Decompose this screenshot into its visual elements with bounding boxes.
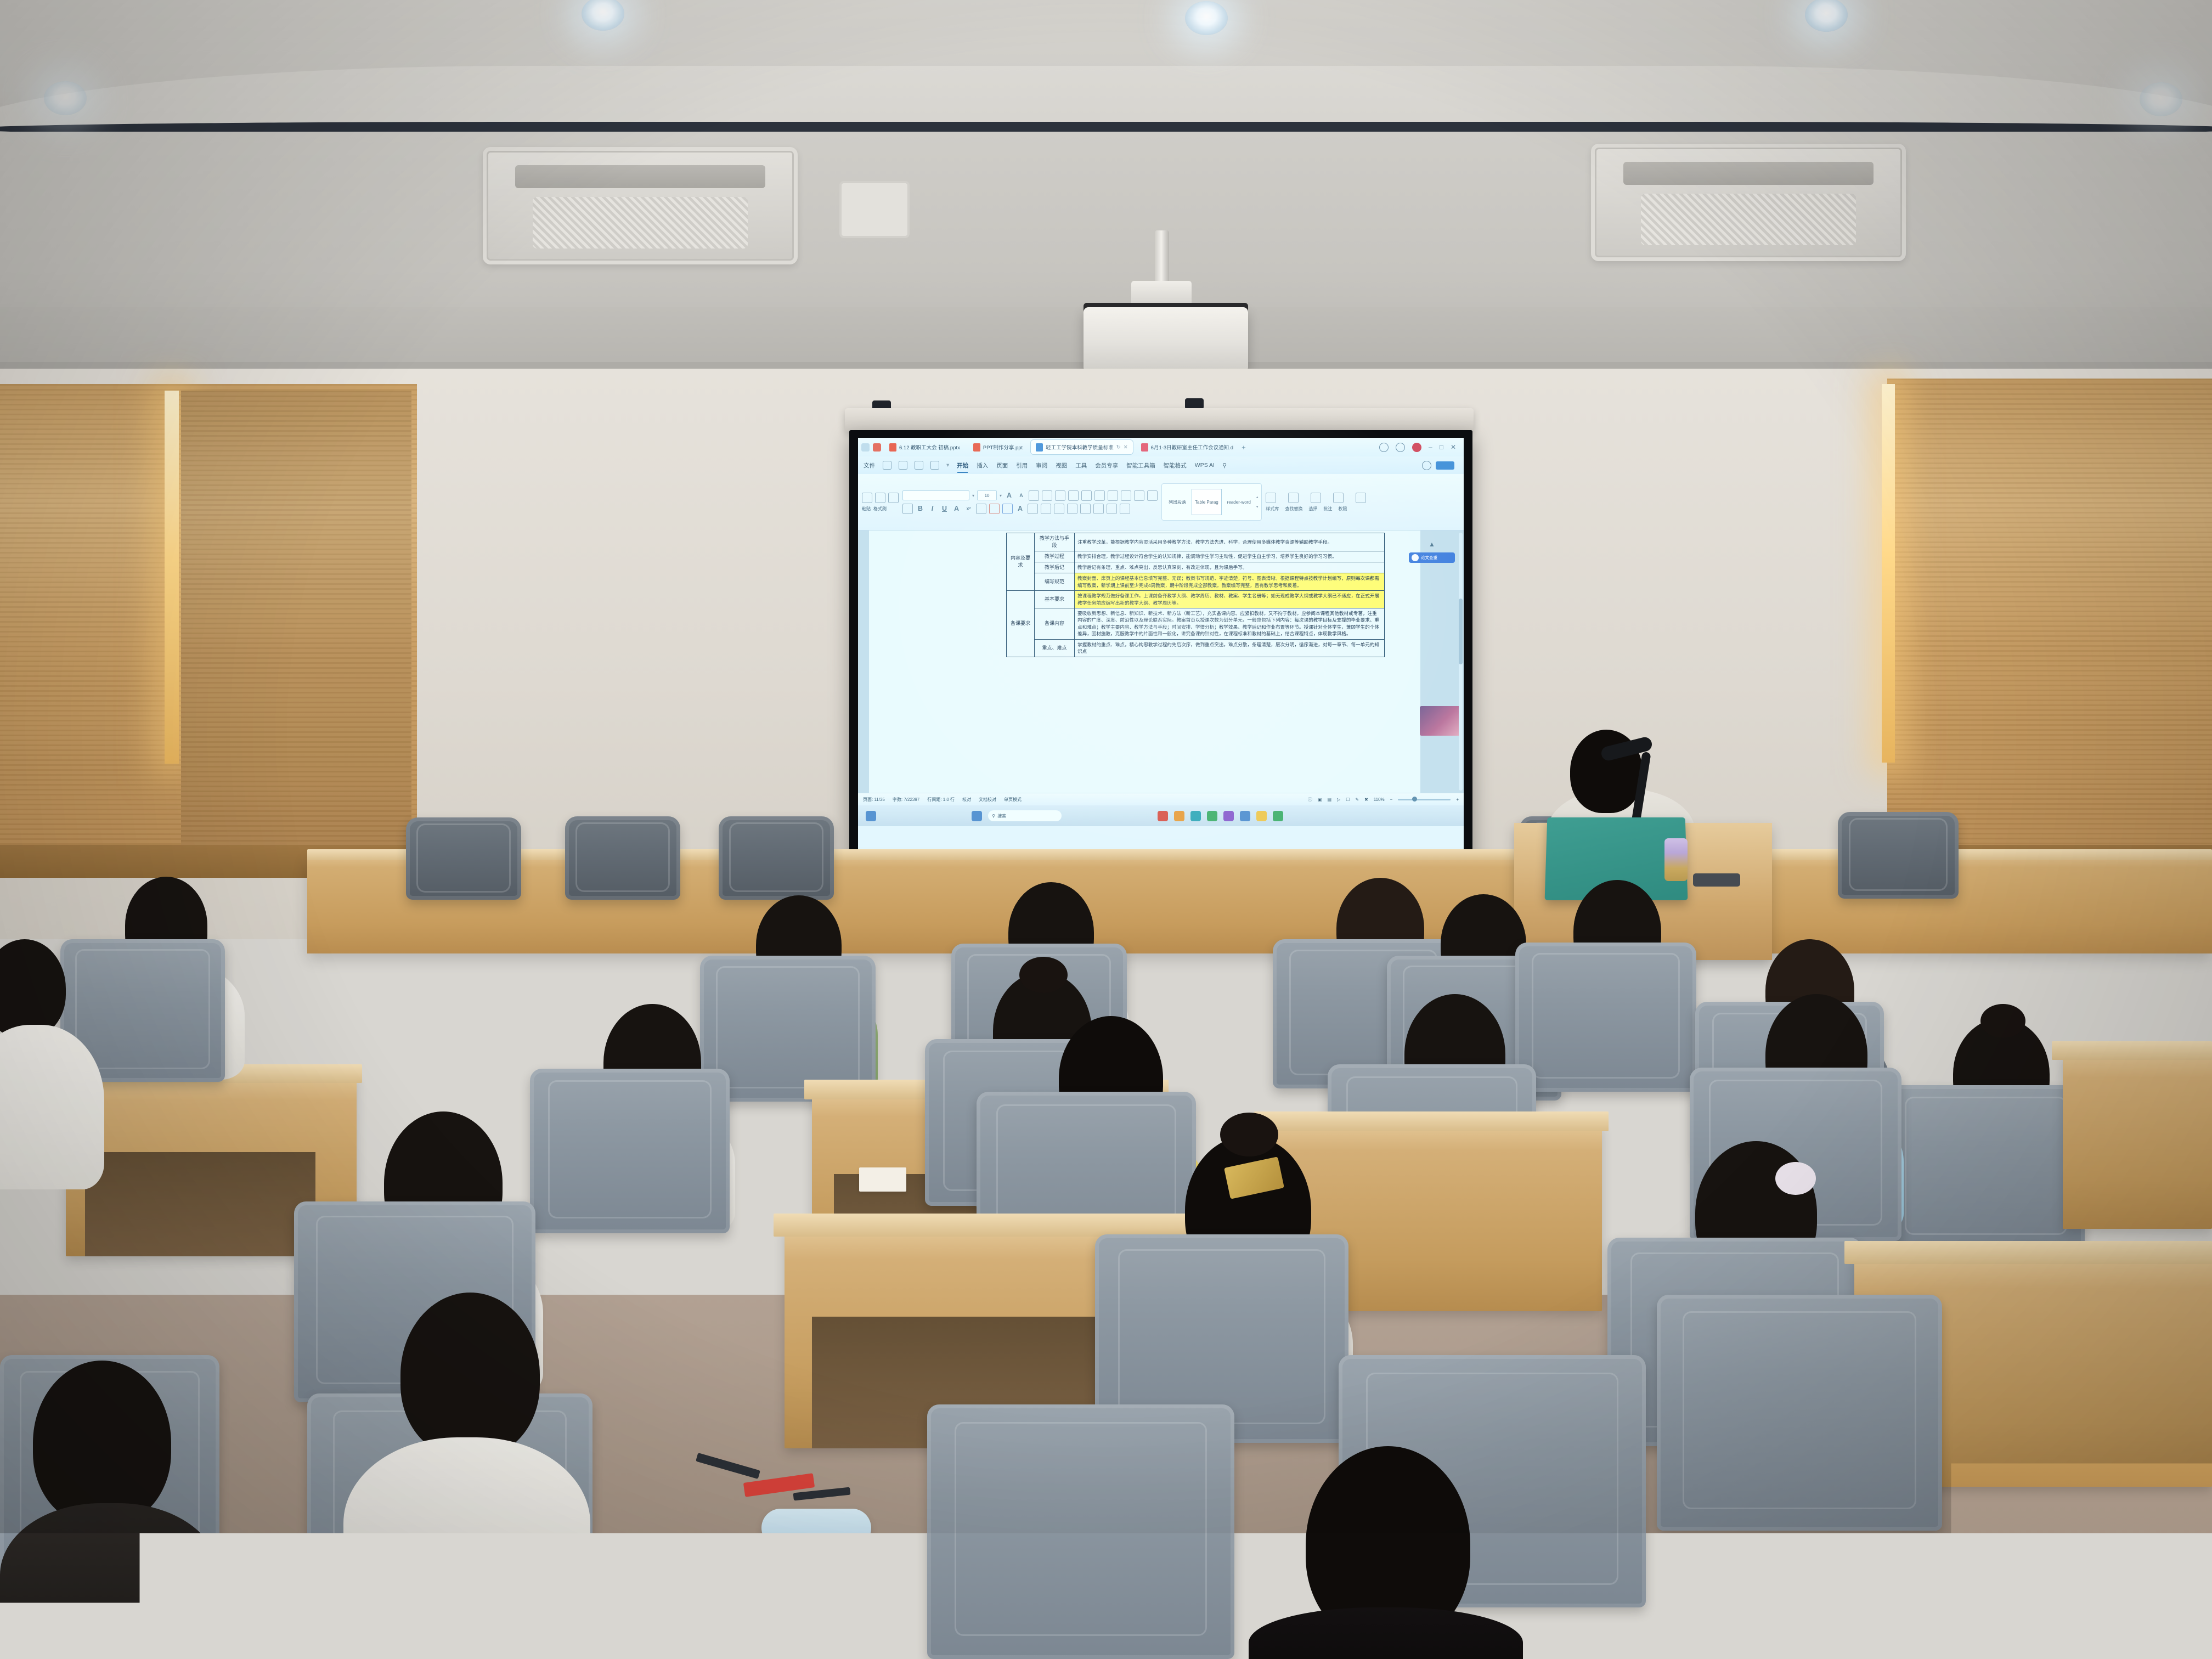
bullet-list-icon[interactable] xyxy=(1055,490,1065,501)
new-document-icon[interactable] xyxy=(873,443,881,452)
justify-icon[interactable] xyxy=(1067,504,1077,514)
audience-head xyxy=(33,1361,171,1525)
wps-logo-icon xyxy=(861,443,870,452)
row-content: 教学安排合理，教学过程设计符合学生的认知规律，能调动学生学习主动性，促进学生自主… xyxy=(1075,551,1385,562)
word-file-icon xyxy=(1036,443,1043,452)
wps-icon[interactable] xyxy=(1223,811,1234,821)
style-item-0[interactable]: 列出段落 xyxy=(1165,496,1189,508)
chair xyxy=(1515,943,1696,1092)
phone-icon xyxy=(1693,873,1740,887)
line-spacing-icon[interactable] xyxy=(1093,504,1104,514)
row-content: 注重教学改革，能根据教学内容灵活采用多种教学方法，教学方法先进、科学，合理使用多… xyxy=(1075,533,1385,551)
wps-status-bar[interactable]: 页面: 11/35 字数: 7/22397 行间距: 1.0 行 校对 文档校对… xyxy=(858,793,1464,805)
web-layout-icon[interactable]: ▤ xyxy=(1327,797,1331,802)
document-page[interactable]: 内容及要求 教学方法与手段 注重教学改革，能根据教学内容灵活采用多种教学方法，教… xyxy=(869,531,1420,793)
font-size-dropdown-icon[interactable]: ▾ xyxy=(1000,493,1002,498)
projection-screen-housing xyxy=(845,408,1474,432)
quick-access-more-icon[interactable]: ▾ xyxy=(946,462,949,469)
paste-label: 粘贴 xyxy=(862,506,871,512)
row-item-label: 备课内容 xyxy=(1035,608,1075,640)
font-name-input[interactable] xyxy=(902,490,969,500)
edge-icon[interactable] xyxy=(1190,811,1201,821)
desk xyxy=(2063,1053,2212,1229)
wps-menubar[interactable]: 文件 ▾ 开始 插入 页面 引用 审阅 视图 工具 会员专享 智能工具箱 智能格… xyxy=(858,456,1464,474)
hair-bun xyxy=(1220,1113,1278,1156)
document-tab-label: 轻工工学院本科教学质量标准 xyxy=(1046,443,1114,451)
ribbon-group-styles[interactable]: 样式库 查找替换 选择 批注 权限 xyxy=(1266,477,1366,527)
pinyin-guide-icon[interactable] xyxy=(1108,490,1118,501)
document-tab-2[interactable]: PPT制作分享.ppt xyxy=(968,440,1028,454)
save-icon[interactable] xyxy=(883,461,891,470)
audience-shoulders xyxy=(0,1503,219,1659)
zoom-slider[interactable] xyxy=(1398,799,1451,800)
ribbon-tab-home[interactable]: 开始 xyxy=(956,460,969,471)
spellcheck-indicator[interactable]: 文档校对 xyxy=(979,797,996,803)
row-item-label: 教学过程 xyxy=(1035,551,1075,562)
ribbon-tab-page[interactable]: 页面 xyxy=(996,460,1008,471)
bold-icon[interactable]: B xyxy=(916,504,925,513)
downlight-icon xyxy=(44,81,87,115)
ribbon-tab-view[interactable]: 视图 xyxy=(1055,460,1068,471)
quality-standard-table: 内容及要求 教学方法与手段 注重教学改革，能根据教学内容灵活采用多种教学方法，教… xyxy=(1006,533,1385,657)
projector-icon xyxy=(1084,307,1248,372)
document-tab-label: 6.12 教职工大会 初稿.pptx xyxy=(899,443,960,451)
ai-check-button[interactable]: 论文查重 xyxy=(1409,552,1455,563)
align-center-icon[interactable] xyxy=(1041,504,1051,514)
format-painter-icon[interactable] xyxy=(888,493,899,503)
downlight-icon xyxy=(2140,82,2182,116)
numbered-list-icon[interactable] xyxy=(1068,490,1079,501)
wps-office-window[interactable]: 6.12 教职工大会 初稿.pptx PPT制作分享.ppt 轻工工学院本科教学… xyxy=(858,438,1464,867)
paper-sheet xyxy=(859,1167,906,1192)
mail-icon[interactable] xyxy=(1273,811,1283,821)
document-tab-1[interactable]: 6.12 教职工大会 初稿.pptx xyxy=(884,440,965,454)
increase-font-icon[interactable]: A xyxy=(1005,491,1014,500)
table-row: 备课内容 要吸收新思想、新信息、新知识、新技术、新方法（新工艺），充实备课内容。… xyxy=(1007,608,1385,640)
focus-mode-icon[interactable]: ✖ xyxy=(1364,797,1368,802)
desk-top xyxy=(1844,1241,2212,1264)
document-tab-label: 6月1-3日教研室主任工作会议通知.d xyxy=(1151,443,1233,451)
ac-vent-icon xyxy=(1591,144,1906,261)
help-icon[interactable]: ⓘ xyxy=(1308,797,1312,803)
word-file-icon xyxy=(1141,443,1148,452)
style-gallery[interactable]: 列出段落 Table Parag reader-word ▴ ▾ xyxy=(1161,483,1262,521)
paste-icon[interactable] xyxy=(862,493,872,503)
fullscreen-icon[interactable]: ☐ xyxy=(1346,797,1350,802)
document-tab-label: PPT制作分享.ppt xyxy=(983,443,1023,451)
borders-icon[interactable] xyxy=(1120,504,1130,514)
shading-icon[interactable] xyxy=(1107,504,1117,514)
document-tab-4[interactable]: 6月1-3日教研室主任工作会议通知.d xyxy=(1136,440,1238,454)
screen-clip-right xyxy=(1185,398,1204,409)
zoom-level[interactable]: 110% xyxy=(1374,797,1385,802)
new-tab-button[interactable]: + xyxy=(1242,443,1246,452)
redo-icon[interactable] xyxy=(915,461,923,470)
view-mode-indicator[interactable]: 单页模式 xyxy=(1004,797,1022,803)
right-sidebar[interactable]: ▲ 论文查重 xyxy=(1409,540,1455,563)
minimize-icon[interactable]: – xyxy=(1429,443,1432,451)
permission-label: 权限 xyxy=(1338,506,1347,512)
ribbon-tab-smart-toolbox[interactable]: 智能工具箱 xyxy=(1126,460,1156,471)
account-avatar[interactable] xyxy=(1412,443,1421,452)
wps-document-area[interactable]: 内容及要求 教学方法与手段 注重教学改革，能根据教学内容灵活采用多种教学方法，教… xyxy=(858,531,1464,793)
desk-top xyxy=(774,1214,1198,1237)
wood-wall-panel-right xyxy=(1887,379,2212,872)
powerpoint-file-icon xyxy=(973,443,980,452)
italic-icon[interactable]: I xyxy=(928,504,937,513)
find-replace-label: 查找替换 xyxy=(1285,506,1302,512)
table-row: 教学过程 教学安排合理，教学过程设计符合学生的认知规律，能调动学生学习主动性，促… xyxy=(1007,551,1385,562)
word-icon[interactable] xyxy=(1240,811,1250,821)
comment-label: 批注 xyxy=(1323,506,1332,512)
ribbon-tab-reference[interactable]: 引用 xyxy=(1015,460,1028,471)
font-dropdown-icon[interactable]: ▾ xyxy=(972,493,974,498)
table-row: 备课要求 基本要求 按课程教学规范做好备课工作。上课前备齐教学大纲、教学周历、教… xyxy=(1007,591,1385,608)
file-menu[interactable]: 文件 xyxy=(863,460,876,471)
styles-label: 样式库 xyxy=(1266,506,1279,512)
superscript-icon[interactable]: x² xyxy=(964,504,973,513)
windows-taskbar[interactable]: ⚲ 搜索 xyxy=(858,805,1464,826)
increase-indent-icon[interactable] xyxy=(1094,490,1105,501)
chair xyxy=(406,817,521,900)
vertical-scrollbar[interactable] xyxy=(1459,533,1463,791)
row-content: 要吸收新思想、新信息、新知识、新技术、新方法（新工艺），充实备课内容。应紧扣教材… xyxy=(1075,608,1385,640)
collapse-ribbon-icon[interactable] xyxy=(1422,461,1431,470)
ribbon-group-clipboard[interactable]: 粘贴 格式刷 xyxy=(862,477,899,527)
chair xyxy=(927,1404,1234,1659)
sidebar-collapse-icon[interactable]: ▲ xyxy=(1409,540,1455,548)
zoom-in-icon[interactable]: + xyxy=(1456,797,1459,802)
sort-icon[interactable] xyxy=(1134,490,1144,501)
search-icon: ⚲ xyxy=(992,814,995,819)
comment-icon[interactable] xyxy=(1333,493,1344,503)
folder-icon[interactable] xyxy=(1174,811,1184,821)
select-label: 选择 xyxy=(1308,506,1317,512)
hair-bun xyxy=(1980,1004,2025,1038)
status-bar-right[interactable]: ⓘ ▣ ▤ ▷ ☐ ✎ ✖ 110% − + xyxy=(1308,797,1459,803)
audience-head xyxy=(400,1293,540,1457)
align-right-icon[interactable] xyxy=(1054,504,1064,514)
clipboard-icon[interactable] xyxy=(902,504,913,514)
led-strip-right xyxy=(1882,384,1895,763)
search-icon[interactable]: ⚲ xyxy=(1222,462,1227,469)
row-content-highlighted: 按课程教学规范做好备课工作。上课前备齐教学大纲、教学周历、教材、教案、学生名册等… xyxy=(1075,591,1385,608)
desk-top xyxy=(2052,1041,2212,1060)
search-placeholder: 搜索 xyxy=(997,813,1006,819)
floating-image-thumbnail[interactable] xyxy=(1420,706,1460,736)
zoom-out-icon[interactable]: − xyxy=(1390,797,1393,802)
style-item-1[interactable]: Table Parag xyxy=(1192,489,1222,515)
document-tab-3-active[interactable]: 轻工工学院本科教学质量标准 ↻ ✕ xyxy=(1031,440,1132,454)
ribbon-tab-tools[interactable]: 工具 xyxy=(1075,460,1087,471)
format-painter-label: 格式刷 xyxy=(873,506,887,512)
underline-icon[interactable]: U xyxy=(940,504,949,513)
page-indicator: 页面: 11/35 xyxy=(863,797,885,803)
window-controls[interactable]: – □ ✕ xyxy=(1379,443,1460,452)
audience-head xyxy=(0,939,66,1038)
line-spacing-indicator[interactable]: 行间距: 1.0 行 xyxy=(927,797,955,803)
chair xyxy=(719,816,834,900)
ac-vent-icon xyxy=(483,147,798,264)
pen-icon[interactable]: ✎ xyxy=(1355,797,1359,802)
water-bottle-icon xyxy=(1664,838,1688,881)
row-content: 教学后记有条理，重点、难点突出，反思认真深刻，有改进体现，且为课后手写。 xyxy=(1075,562,1385,573)
ribbon-group-font[interactable]: ▾ 10 ▾ A A xyxy=(902,477,1158,527)
print-icon[interactable] xyxy=(930,461,939,470)
row-group-label: 内容及要求 xyxy=(1007,533,1035,591)
align-left-icon[interactable] xyxy=(1028,504,1038,514)
chair xyxy=(565,816,680,900)
text-highlight-color-icon[interactable] xyxy=(989,504,1000,514)
row-item-label: 教学后记 xyxy=(1035,562,1075,573)
audience-shoulders xyxy=(343,1437,590,1624)
hair-bun xyxy=(1019,957,1068,993)
row-item-label: 教学方法与手段 xyxy=(1035,533,1075,551)
share-icon[interactable] xyxy=(1379,443,1389,452)
powerpoint-file-icon xyxy=(889,443,896,452)
wps-ribbon[interactable]: 粘贴 格式刷 ▾ 10 ▾ A A xyxy=(858,474,1464,531)
decrease-indent-icon[interactable] xyxy=(1081,490,1092,501)
find-replace-icon[interactable] xyxy=(1288,493,1299,503)
projection-screen[interactable]: 6.12 教职工大会 初稿.pptx PPT制作分享.ppt 轻工工学院本科教学… xyxy=(858,438,1464,867)
table-row: 内容及要求 教学方法与手段 注重教学改革，能根据教学内容灵活采用多种教学方法，教… xyxy=(1007,533,1385,551)
led-strip-left xyxy=(165,391,179,764)
styles-pane-icon[interactable] xyxy=(1266,493,1276,503)
sync-icon[interactable] xyxy=(1396,443,1405,452)
row-content: 掌握教材的重点、难点，精心构思教学过程的先后次序，做到重点突出，难点分散，条理清… xyxy=(1075,639,1385,657)
distribute-icon[interactable] xyxy=(1080,504,1091,514)
style-item-2[interactable]: reader-word xyxy=(1224,497,1254,507)
word-count: 字数: 7/22397 xyxy=(893,797,919,803)
smoke-detector-icon xyxy=(839,181,910,238)
chair xyxy=(530,1069,730,1233)
table-row: 编写规范 教案封面、扉页上的课程基本信息填写完整、无误；教案书写规范、字迹清楚，… xyxy=(1007,573,1385,591)
chat-icon[interactable] xyxy=(1256,811,1267,821)
chair xyxy=(1887,1085,2085,1250)
character-border-icon[interactable] xyxy=(1121,490,1131,501)
windows-start-icon[interactable] xyxy=(866,811,876,821)
read-mode-icon[interactable]: ▷ xyxy=(1337,797,1340,802)
taskbar-search[interactable]: ⚲ 搜索 xyxy=(988,810,1062,821)
maximize-icon[interactable]: □ xyxy=(1440,443,1443,451)
tab-refresh-icon[interactable]: ↻ xyxy=(1116,444,1121,450)
select-icon[interactable] xyxy=(1311,493,1321,503)
ribbon-tab-member[interactable]: 会员专享 xyxy=(1094,460,1119,471)
ribbon-tab-smart-format[interactable]: 智能格式 xyxy=(1163,460,1187,471)
clear-format-icon[interactable] xyxy=(1042,490,1052,501)
strikethrough-icon[interactable]: A xyxy=(952,504,961,513)
section-indicator[interactable]: 校对 xyxy=(962,797,971,803)
hair-bun xyxy=(1775,1162,1816,1195)
chair xyxy=(1657,1295,1942,1531)
show-marks-icon[interactable] xyxy=(1147,490,1158,501)
ai-assistant-icon xyxy=(1412,554,1419,561)
undo-icon[interactable] xyxy=(899,461,907,470)
tab-close-icon[interactable]: ✕ xyxy=(1124,444,1128,450)
row-item-label: 编写规范 xyxy=(1035,573,1075,591)
print-layout-icon[interactable]: ▣ xyxy=(1318,797,1322,802)
highlight-icon[interactable] xyxy=(1029,490,1039,501)
file-explorer-icon[interactable] xyxy=(972,811,982,821)
wood-wall-panel-left-inner xyxy=(181,391,411,862)
store-icon[interactable] xyxy=(1207,811,1217,821)
ribbon-tab-review[interactable]: 审阅 xyxy=(1035,460,1048,471)
cut-icon[interactable] xyxy=(875,493,885,503)
wps-titlebar[interactable]: 6.12 教职工大会 初稿.pptx PPT制作分享.ppt 轻工工学院本科教学… xyxy=(858,438,1464,456)
screenshot-root: 6.12 教职工大会 初稿.pptx PPT制作分享.ppt 轻工工学院本科教学… xyxy=(0,0,2212,1659)
share-button[interactable] xyxy=(1436,461,1454,470)
font-color-icon[interactable] xyxy=(1002,504,1013,514)
row-group-label: 备课要求 xyxy=(1007,591,1035,657)
chair xyxy=(1838,812,1959,899)
desk-top xyxy=(1254,1111,1609,1131)
style-scroll-up-icon[interactable]: ▴ xyxy=(1256,495,1259,499)
table-row: 重点、难点 掌握教材的重点、难点，精心构思教学过程的先后次序，做到重点突出，难点… xyxy=(1007,639,1385,657)
ai-check-label: 论文查重 xyxy=(1421,555,1437,561)
change-case-icon[interactable]: A xyxy=(1015,504,1025,513)
pdf-icon[interactable] xyxy=(1158,811,1168,821)
close-icon[interactable]: ✕ xyxy=(1451,443,1456,451)
ribbon-tab-insert[interactable]: 插入 xyxy=(976,460,989,471)
font-size-input[interactable]: 10 xyxy=(977,490,997,500)
downlight-icon xyxy=(1185,1,1228,35)
row-item-label: 重点、难点 xyxy=(1035,639,1075,657)
desk-underspace xyxy=(85,1152,315,1256)
decrease-font-icon[interactable]: A xyxy=(1017,491,1026,500)
row-item-label: 基本要求 xyxy=(1035,591,1075,608)
table-row: 教学后记 教学后记有条理，重点、难点突出，反思认真深刻，有改进体现，且为课后手写… xyxy=(1007,562,1385,573)
text-effects-icon[interactable] xyxy=(976,504,986,514)
style-scroll-down-icon[interactable]: ▾ xyxy=(1256,505,1259,509)
permission-icon[interactable] xyxy=(1356,493,1366,503)
water-bottle-icon xyxy=(823,1542,898,1659)
ribbon-tab-wps-ai[interactable]: WPS AI xyxy=(1194,460,1215,470)
row-content-highlighted: 教案封面、扉页上的课程基本信息填写完整、无误；教案书写规范、字迹清楚，符号、图表… xyxy=(1075,573,1385,591)
